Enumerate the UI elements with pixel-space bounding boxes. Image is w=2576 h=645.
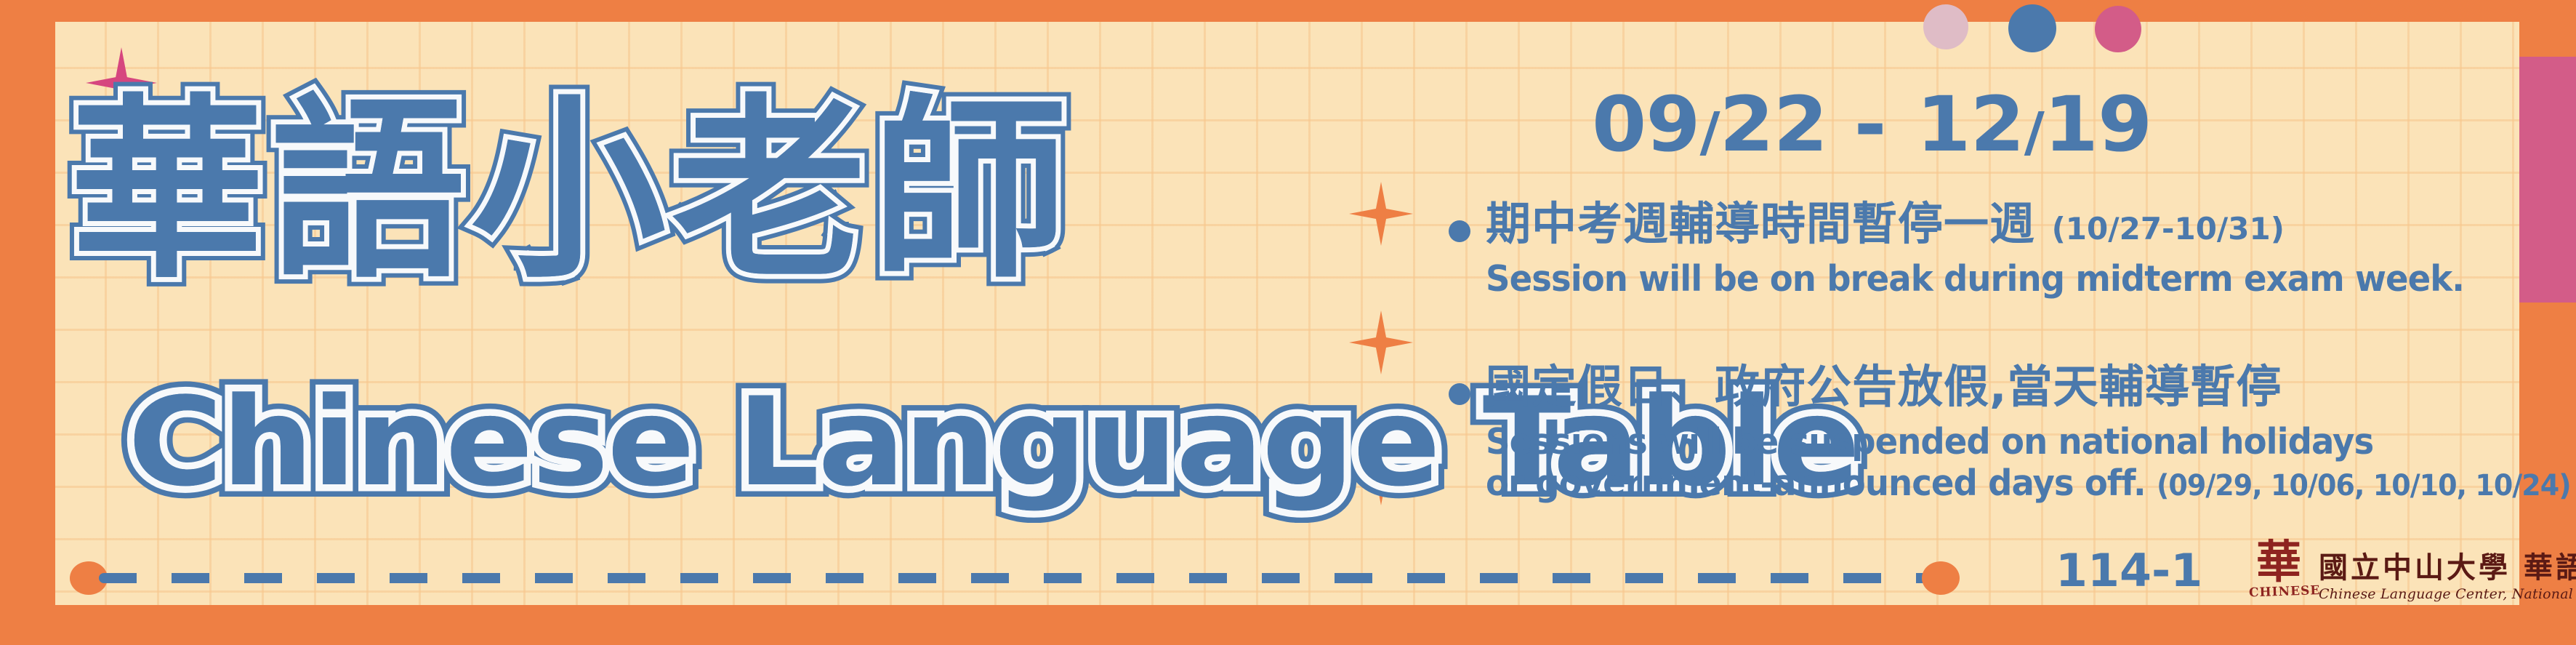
- logo-name-english: Chinese Language Center, National Sun Ya…: [2319, 585, 2576, 604]
- notice-2-english-note: (09/29, 10/06, 10/10, 10/24): [2157, 469, 2571, 502]
- notice-2-english-line2: or government-announced days off. (09/29…: [1486, 464, 2571, 504]
- semester-badge: 114-1: [2056, 544, 2202, 597]
- date-end-month: 12: [1916, 80, 2024, 169]
- logo-mark: 華 CHINESE: [2250, 544, 2307, 609]
- date-slash-1: /: [1699, 101, 1719, 164]
- divider-dashes: [99, 573, 1931, 583]
- circle-magenta: [2095, 6, 2141, 52]
- institution-logo: 華 CHINESE 國立中山大學 華語教學中心 Chinese Language…: [2250, 544, 2576, 609]
- notice-1-chinese: 期中考週輔導時間暫停一週 (10/27-10/31): [1486, 198, 2516, 249]
- date-start-day: 22: [1720, 80, 1827, 169]
- date-slash-2: /: [2024, 101, 2044, 164]
- notice-2-english-line2-text: or government-announced days off.: [1486, 462, 2146, 504]
- notice-1-english: Session will be on break during midterm …: [1486, 260, 2464, 300]
- date-start-month: 09: [1592, 80, 1699, 169]
- dashed-divider: [70, 570, 1960, 586]
- bullet-marker-1: [1449, 220, 1470, 242]
- logo-hua-character: 華: [2250, 540, 2307, 585]
- notice-2-chinese: 國定假日、政府公告放假,當天輔導暫停: [1486, 361, 2576, 412]
- date-dash: -: [1854, 80, 1890, 169]
- notice-item-1: 期中考週輔導時間暫停一週 (10/27-10/31) Session will …: [1486, 198, 2516, 300]
- circle-pale-pink: [1923, 4, 1968, 49]
- logo-name-chinese: 國立中山大學 華語教學中心: [2319, 550, 2576, 585]
- date-end-day: 19: [2044, 80, 2152, 169]
- logo-chinese-wordmark: CHINESE: [2249, 584, 2312, 601]
- notice-1-chinese-text: 期中考週輔導時間暫停一週: [1486, 197, 2035, 250]
- date-range-header: 09/22 - 12/19: [1592, 80, 2152, 169]
- circle-blue: [2008, 4, 2056, 52]
- bullet-marker-2: [1449, 383, 1470, 405]
- banner-root: 華語小老師 華語小老師 華語小老師 Chinese Language Table…: [0, 0, 2576, 645]
- notice-item-2: 國定假日、政府公告放假,當天輔導暫停 Sessions will be susp…: [1486, 361, 2576, 504]
- divider-cap-right: [1922, 561, 1960, 595]
- notice-1-chinese-note: (10/27-10/31): [2052, 211, 2285, 247]
- page-title-chinese: 華語小老師: [70, 93, 1073, 288]
- notice-2-english-line1: Sessions will be suspended on national h…: [1486, 422, 2571, 462]
- logo-text-block: 國立中山大學 華語教學中心 Chinese Language Center, N…: [2319, 550, 2576, 604]
